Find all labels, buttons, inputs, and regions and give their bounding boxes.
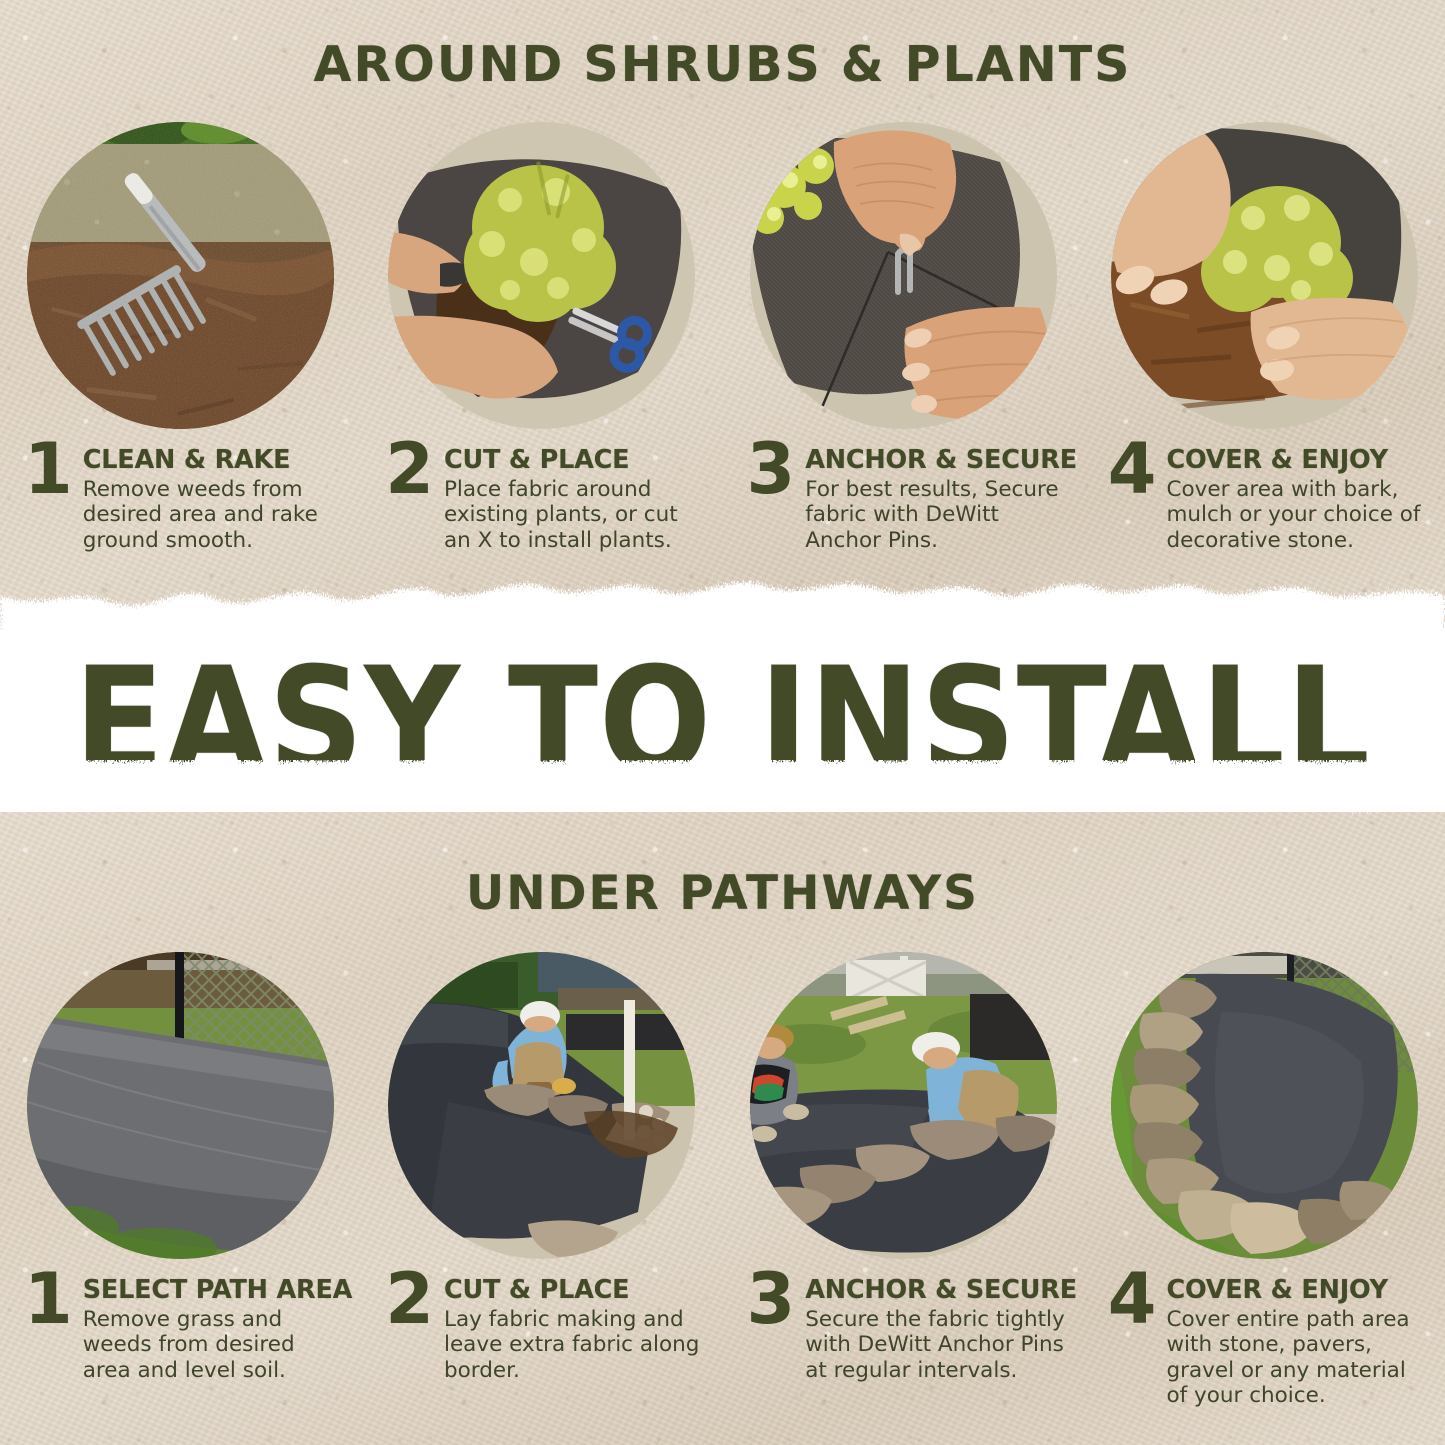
step-caption: 2 CUT & PLACE Lay fabric making and leav… [373,1275,710,1383]
infographic-page: AROUND SHRUBS & PLANTS [0,0,1445,1445]
step-heading: CUT & PLACE [444,445,711,475]
step-caption: 3 ANCHOR & SECURE Secure the fabric tigh… [735,1275,1072,1383]
step-number: 1 [24,1269,73,1383]
photo-path-anchor-and-secure [750,952,1057,1259]
step-caption: 3 ANCHOR & SECURE For best results, Secu… [735,445,1072,553]
photo-cover-and-enjoy [1111,122,1418,429]
step-number: 1 [24,439,73,553]
step-card-shrubs-1: 1 CLEAN & RAKE Remove weeds from desired… [0,122,361,553]
step-number: 2 [385,439,434,553]
photo-path-cut-and-place [388,952,695,1259]
step-body: Lay fabric making and leave extra fabric… [444,1307,711,1383]
step-body: Remove grass and weeds from desired area… [83,1307,350,1383]
step-number: 4 [1108,1269,1157,1408]
step-heading: ANCHOR & SECURE [805,1275,1072,1305]
step-card-path-4: 4 COVER & ENJOY Cover entire path area w… [1084,952,1445,1408]
step-body: Remove weeds from desired area and rake … [83,477,350,553]
step-caption: 1 CLEAN & RAKE Remove weeds from desired… [12,445,349,553]
step-heading: ANCHOR & SECURE [805,445,1072,475]
step-heading: COVER & ENJOY [1166,1275,1433,1305]
step-caption: 4 COVER & ENJOY Cover entire path area w… [1096,1275,1433,1408]
step-number: 4 [1108,439,1157,553]
photo-cut-and-place [388,122,695,429]
step-card-shrubs-4: 4 COVER & ENJOY Cover area with bark, mu… [1084,122,1445,553]
step-number: 3 [747,1269,796,1383]
step-heading: CLEAN & RAKE [83,445,350,475]
step-number: 2 [385,1269,434,1383]
section-title-under-pathways: UNDER PATHWAYS [0,866,1445,921]
photo-path-cover-and-enjoy [1111,952,1418,1259]
step-card-shrubs-3: 3 ANCHOR & SECURE For best results, Secu… [723,122,1084,553]
step-card-shrubs-2: 2 CUT & PLACE Place fabric around existi… [361,122,722,553]
step-card-path-2: 2 CUT & PLACE Lay fabric making and leav… [361,952,722,1408]
step-caption: 1 SELECT PATH AREA Remove grass and weed… [12,1275,349,1383]
photo-clean-and-rake [27,122,334,429]
step-heading: CUT & PLACE [444,1275,711,1305]
step-caption: 4 COVER & ENJOY Cover area with bark, mu… [1096,445,1433,553]
photo-select-path-area [27,952,334,1259]
step-number: 3 [747,439,796,553]
step-body: Secure the fabric tightly with DeWitt An… [805,1307,1072,1383]
step-caption: 2 CUT & PLACE Place fabric around existi… [373,445,710,553]
steps-row-pathways: 1 SELECT PATH AREA Remove grass and weed… [0,952,1445,1408]
step-body: Cover entire path area with stone, paver… [1166,1307,1433,1408]
step-heading: SELECT PATH AREA [83,1275,350,1305]
step-body: For best results, Secure fabric with DeW… [805,477,1072,553]
step-heading: COVER & ENJOY [1166,445,1433,475]
easy-to-install-banner: EASY TO INSTALL [0,632,1445,812]
section-title-around-shrubs: AROUND SHRUBS & PLANTS [0,36,1445,93]
photo-anchor-and-secure [750,122,1057,429]
steps-row-shrubs: 1 CLEAN & RAKE Remove weeds from desired… [0,122,1445,553]
banner-headline: EASY TO INSTALL [74,636,1371,808]
step-body: Cover area with bark, mulch or your choi… [1166,477,1433,553]
step-card-path-1: 1 SELECT PATH AREA Remove grass and weed… [0,952,361,1408]
step-card-path-3: 3 ANCHOR & SECURE Secure the fabric tigh… [723,952,1084,1408]
step-body: Place fabric around existing plants, or … [444,477,711,553]
